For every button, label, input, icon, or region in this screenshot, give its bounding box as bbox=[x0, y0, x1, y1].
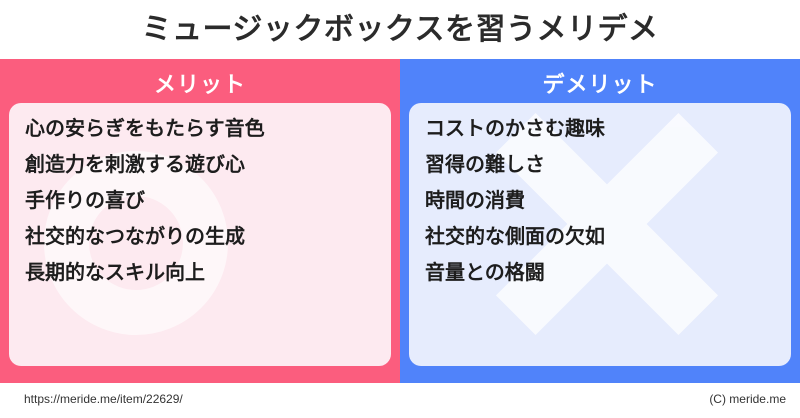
list-item: 社交的な側面の欠如 bbox=[425, 227, 791, 263]
list-item: コストのかさむ趣味 bbox=[425, 119, 791, 155]
list-item: 手作りの喜び bbox=[25, 191, 391, 227]
copyright-notice: (C) meride.me bbox=[709, 393, 786, 405]
list-item: 長期的なスキル向上 bbox=[25, 263, 391, 299]
panel-demerit-card: コストのかさむ趣味 習得の難しさ 時間の消費 社交的な側面の欠如 音量との格闘 bbox=[409, 103, 791, 366]
footer: https://meride.me/item/22629/ (C) meride… bbox=[0, 383, 800, 418]
list-item: 社交的なつながりの生成 bbox=[25, 227, 391, 263]
merit-item-list: 心の安らぎをもたらす音色 創造力を刺激する遊び心 手作りの喜び 社交的なつながり… bbox=[25, 119, 391, 299]
list-item: 創造力を刺激する遊び心 bbox=[25, 155, 391, 191]
panels-container: メリット 心の安らぎをもたらす音色 創造力を刺激する遊び心 手作りの喜び 社交的… bbox=[0, 59, 800, 383]
demerit-item-list: コストのかさむ趣味 習得の難しさ 時間の消費 社交的な側面の欠如 音量との格闘 bbox=[425, 119, 791, 299]
panel-merit-heading: メリット bbox=[9, 67, 391, 103]
list-item: 心の安らぎをもたらす音色 bbox=[25, 119, 391, 155]
list-item: 音量との格闘 bbox=[425, 263, 791, 299]
panel-merit: メリット 心の安らぎをもたらす音色 創造力を刺激する遊び心 手作りの喜び 社交的… bbox=[0, 59, 400, 383]
page-title: ミュージックボックスを習うメリデメ bbox=[142, 15, 659, 45]
comparison-infographic: ミュージックボックスを習うメリデメ メリット 心の安らぎをもたらす音色 創造力を… bbox=[0, 0, 800, 418]
source-url[interactable]: https://meride.me/item/22629/ bbox=[24, 393, 183, 405]
title-bar: ミュージックボックスを習うメリデメ bbox=[0, 0, 800, 59]
list-item: 時間の消費 bbox=[425, 191, 791, 227]
panel-merit-card: 心の安らぎをもたらす音色 創造力を刺激する遊び心 手作りの喜び 社交的なつながり… bbox=[9, 103, 391, 366]
list-item: 習得の難しさ bbox=[425, 155, 791, 191]
panel-demerit: デメリット コストのかさむ趣味 習得の難しさ 時間の消費 社交的な側面の欠如 音… bbox=[400, 59, 800, 383]
panel-demerit-heading: デメリット bbox=[409, 67, 791, 103]
